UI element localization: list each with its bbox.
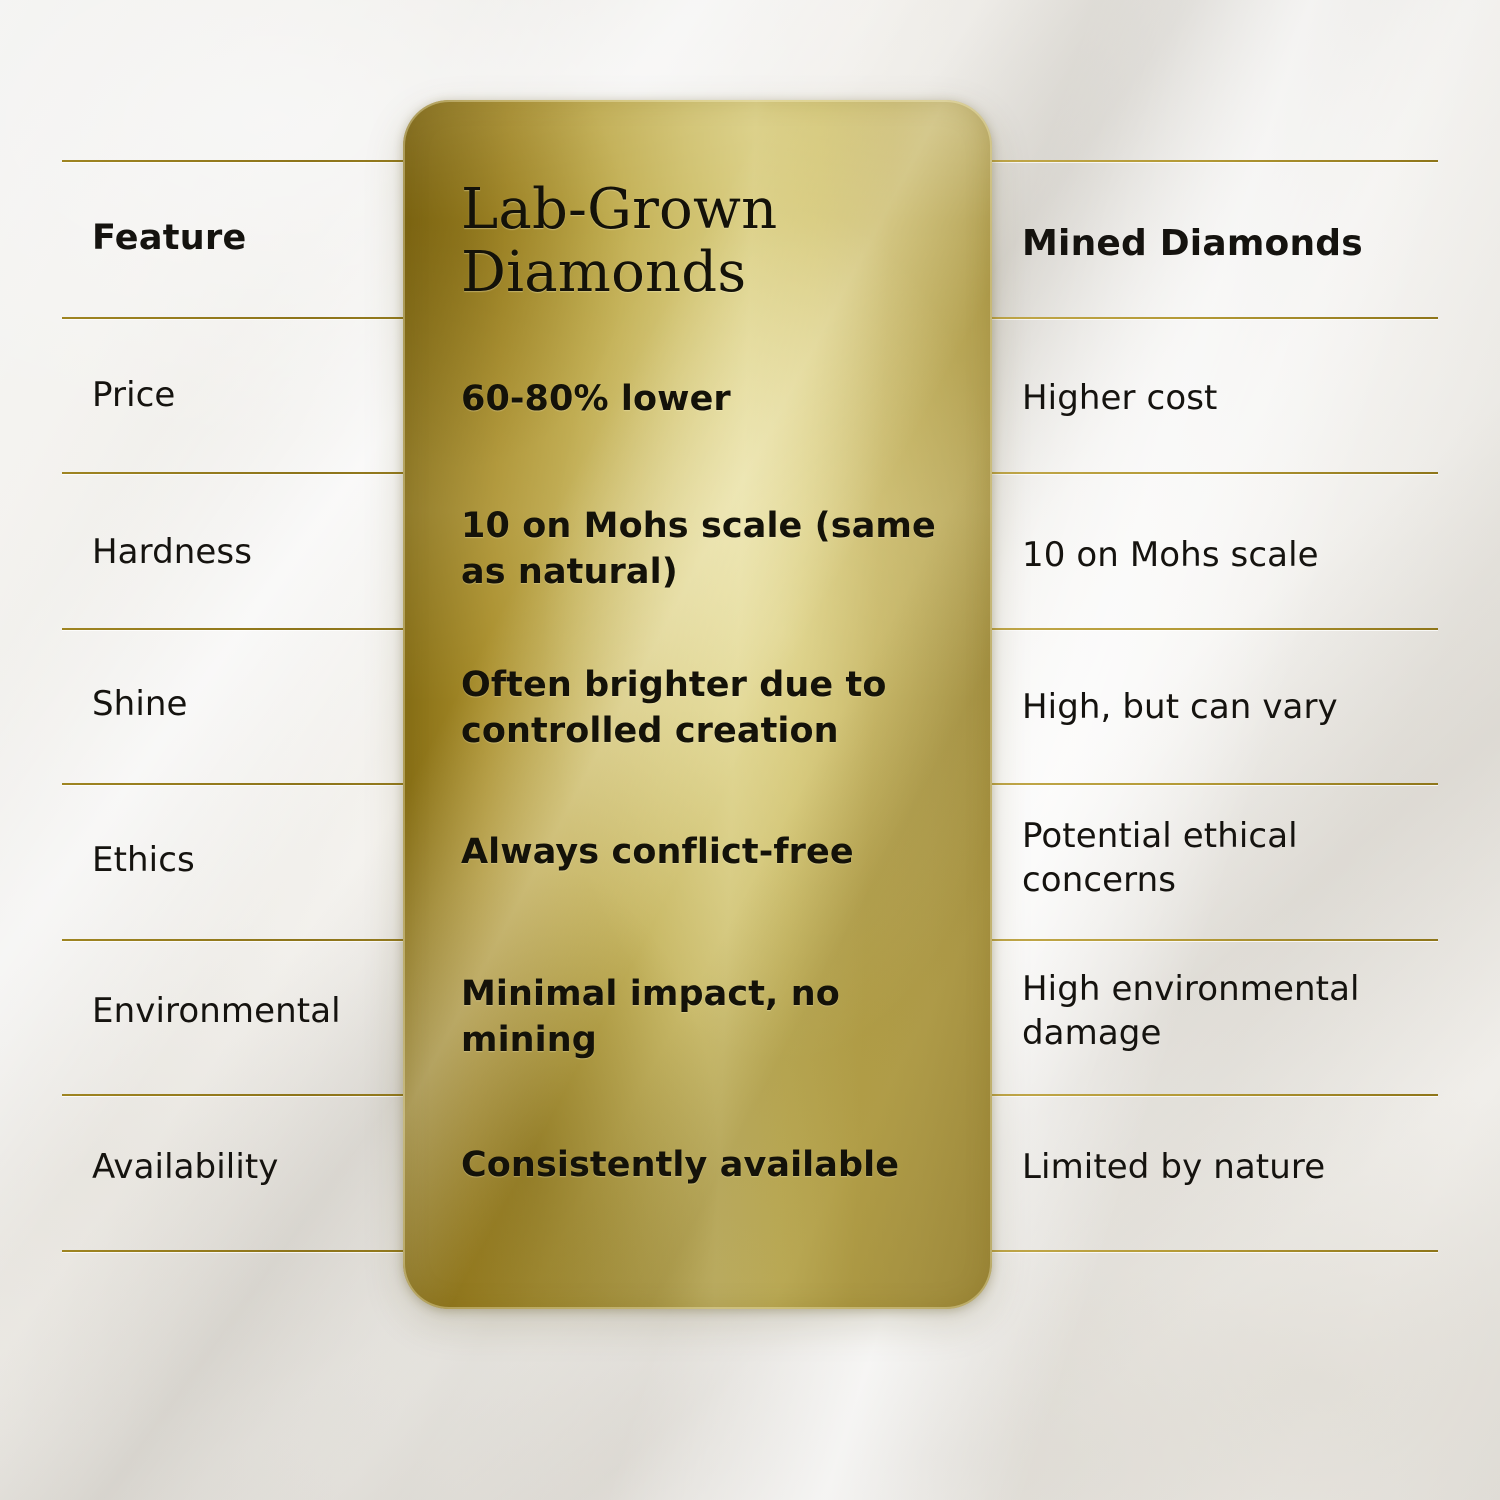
lab-grown-value-ethics: Always conflict-free [461,830,961,876]
gold-card-title-line-2: Diamonds [461,241,961,304]
mined-value-availability: Limited by nature [1022,1146,1442,1190]
feature-label-price: Price [92,374,392,418]
gold-card-title: Lab-Grown Diamonds [461,178,961,305]
feature-label-availability: Availability [92,1146,392,1190]
lab-grown-value-hardness: 10 on Mohs scale (same as natural) [461,504,961,595]
feature-label-ethics: Ethics [92,839,392,883]
column-header-feature: Feature [92,218,392,258]
lab-grown-diamonds-content: Lab-Grown Diamonds 60-80% lower 10 on Mo… [403,100,992,1309]
feature-label-hardness: Hardness [92,531,392,575]
mined-value-shine: High, but can vary [1022,686,1442,730]
mined-value-hardness: 10 on Mohs scale [1022,534,1442,578]
lab-grown-value-price: 60-80% lower [461,377,961,423]
mined-value-ethics: Potential ethical concerns [1022,815,1442,902]
mined-value-environmental: High environmental damage [1022,968,1442,1055]
infographic-canvas: Feature Price Hardness Shine Ethics Envi… [0,0,1500,1500]
lab-grown-value-environmental: Minimal impact, no mining [461,972,961,1063]
feature-label-shine: Shine [92,683,392,727]
column-header-mined-diamonds: Mined Diamonds [1022,223,1442,264]
lab-grown-diamonds-card: Lab-Grown Diamonds 60-80% lower 10 on Mo… [403,100,992,1309]
lab-grown-value-availability: Consistently available [461,1143,961,1189]
gold-card-title-line-1: Lab-Grown [461,178,961,241]
lab-grown-value-shine: Often brighter due to controlled creatio… [461,663,961,754]
feature-label-environmental: Environmental [92,990,392,1034]
mined-value-price: Higher cost [1022,377,1442,421]
